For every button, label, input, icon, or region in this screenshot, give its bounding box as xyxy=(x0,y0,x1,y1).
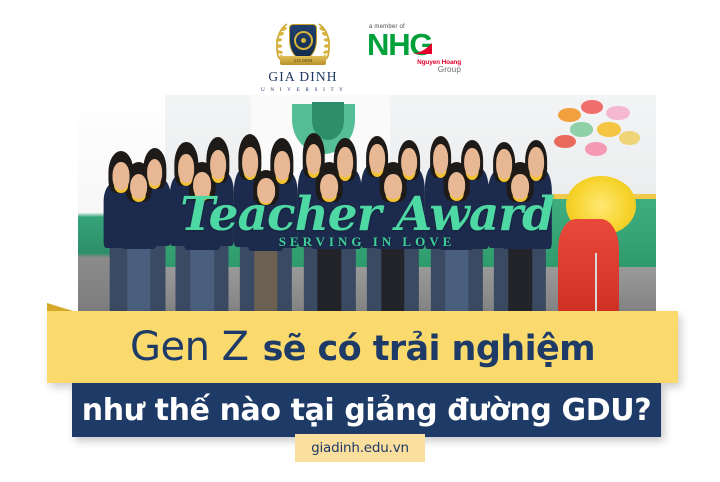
headline-line-1: Gen Z sẽ có trải nghiệm xyxy=(130,324,595,370)
header-logo-bar: GIA DINH GIA DINH U N I V E R S I T Y a … xyxy=(0,18,720,88)
nhg-wordmark: N H G xyxy=(367,31,432,60)
gdu-crest-icon: GIA DINH xyxy=(272,18,334,66)
nhg-company-line2: Group xyxy=(417,65,461,74)
flower-basket xyxy=(552,95,650,321)
headline-banner-navy: như thế nào tại giảng đường GDU? xyxy=(72,383,661,437)
headline-banner-yellow: Gen Z sẽ có trải nghiệm xyxy=(47,311,678,383)
website-url-text: giadinh.edu.vn xyxy=(311,440,409,456)
nhg-letter-n: N xyxy=(367,31,388,60)
gia-dinh-university-logo: GIA DINH GIA DINH U N I V E R S I T Y xyxy=(257,18,349,93)
crest-ribbon: GIA DINH xyxy=(280,56,326,65)
nhg-letter-g: G xyxy=(409,31,432,60)
website-url-badge[interactable]: giadinh.edu.vn xyxy=(295,434,425,462)
gdu-name: GIA DINH xyxy=(268,69,337,85)
gdu-subtitle: U N I V E R S I T Y xyxy=(261,87,345,93)
group-photo: Teacher Award SERVING IN LOVE xyxy=(78,95,656,321)
gear-emblem-icon xyxy=(294,31,313,50)
nhg-letter-h: H xyxy=(388,31,409,60)
crest-ribbon-label: GIA DINH xyxy=(294,59,312,63)
nhg-swoosh-icon xyxy=(407,42,433,56)
headline-highlight-genz: Gen Z xyxy=(130,324,249,370)
flower-bouquet xyxy=(552,95,650,185)
shield-icon xyxy=(289,24,317,60)
nhg-logo: a member of N H G Nguyen Hoang Group xyxy=(367,18,463,74)
headline-rest: sẽ có trải nghiệm xyxy=(263,329,595,369)
headline-line-2: như thế nào tại giảng đường GDU? xyxy=(82,393,651,428)
flower-basket-wrap xyxy=(558,219,619,318)
